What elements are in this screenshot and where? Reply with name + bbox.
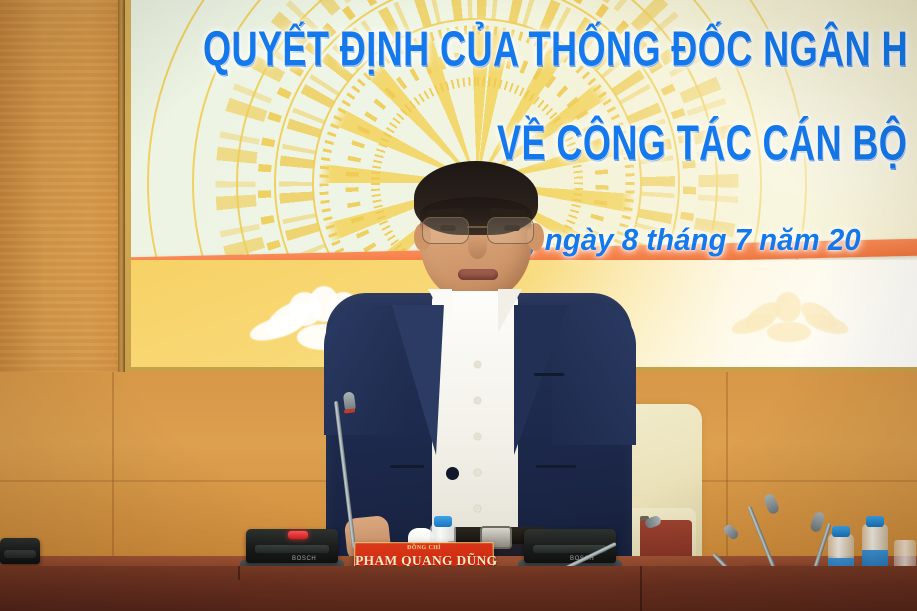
bottle-cap-right-2 [866, 516, 884, 527]
shirt-button [474, 469, 481, 476]
shirt-button [474, 505, 481, 512]
mouth [458, 269, 498, 280]
jacket-button [446, 467, 459, 480]
photo-scene: QUYẾT ĐỊNH CỦA THỐNG ĐỐC NGÂN H VỀ CÔNG … [0, 0, 917, 611]
speaker-person [328, 165, 628, 565]
shirt-button [474, 397, 481, 404]
mic-brand-label-left: BOSCH [292, 556, 316, 562]
glasses-bridge [467, 226, 487, 228]
banner-headline-line1: QUYẾT ĐỊNH CỦA THỐNG ĐỐC NGÂN H [203, 22, 908, 78]
mic-indicator-led-left [288, 531, 308, 539]
shirt-button [474, 433, 481, 440]
shirt-button [474, 361, 481, 368]
nose [468, 233, 487, 259]
lens-left [422, 217, 469, 244]
microphone-unit-far-left[interactable] [0, 538, 40, 564]
lapel-left [384, 305, 444, 455]
jacket-pocket-left [390, 465, 424, 468]
breast-pocket [534, 373, 564, 376]
lapel-right [514, 305, 568, 455]
banner-headline-line2: VỀ CÔNG TÁC CÁN BỘ [497, 116, 907, 172]
nameplate-title: ĐỒNG CHÍ [355, 545, 493, 552]
bottle-cap-right-1 [832, 526, 850, 537]
bottle-cap-center [434, 516, 452, 527]
desk-front-left [0, 580, 240, 611]
lens-right [487, 217, 534, 244]
lotus-flower-faint [731, 290, 849, 348]
jacket-pocket-right [536, 465, 576, 468]
